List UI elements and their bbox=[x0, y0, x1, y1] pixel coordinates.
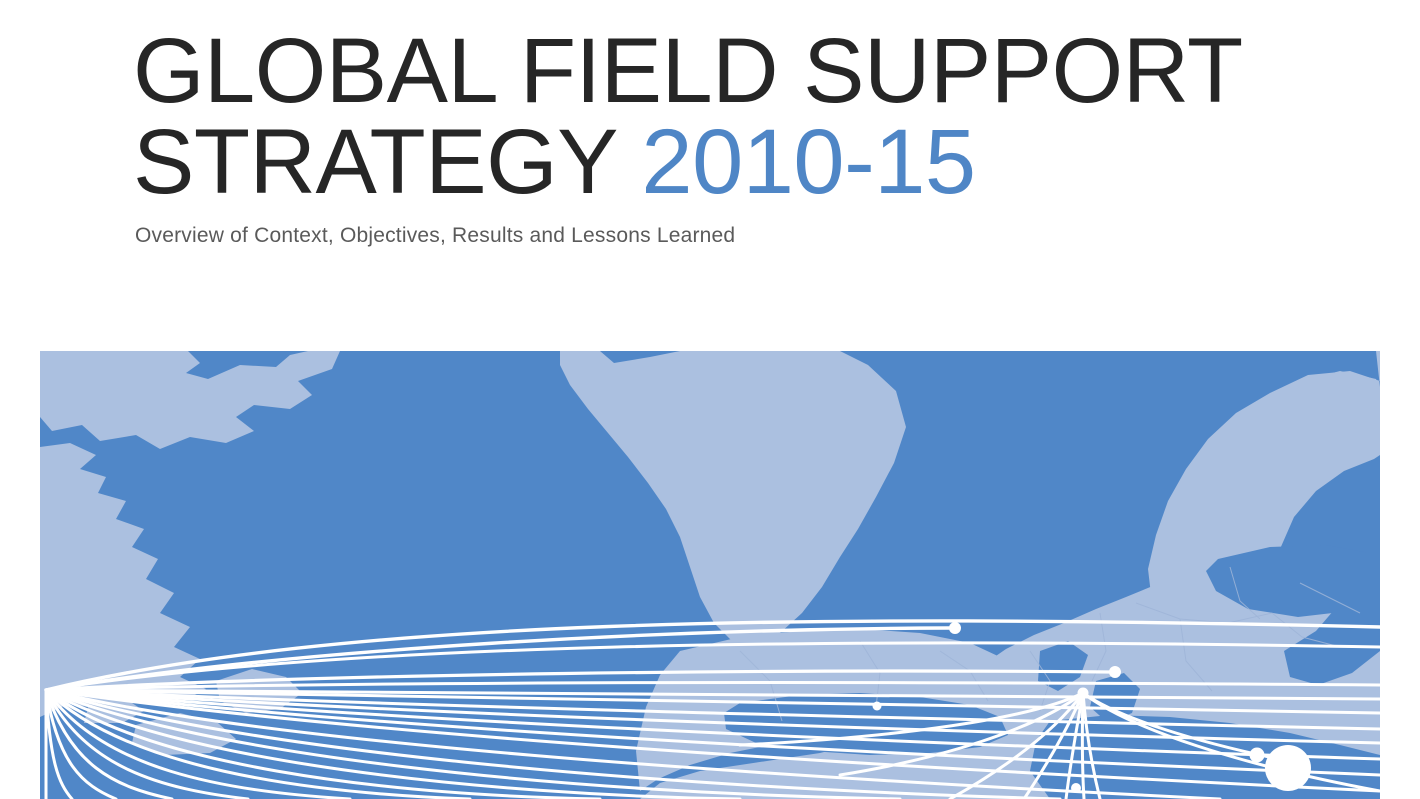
node-iberia-dot bbox=[873, 702, 882, 711]
node-central-europe-dot bbox=[949, 622, 961, 634]
node-southeast-europe-dot bbox=[1109, 666, 1121, 678]
page-title-years: 2010-15 bbox=[641, 111, 975, 213]
world-map-svg bbox=[40, 351, 1380, 799]
title-block: GLOBAL FIELD SUPPORT STRATEGY 2010-15 Ov… bbox=[133, 26, 1313, 248]
page-title: GLOBAL FIELD SUPPORT STRATEGY 2010-15 bbox=[133, 26, 1313, 208]
node-balkans-lower-dot bbox=[1071, 783, 1081, 793]
node-levant-large-dot bbox=[1265, 745, 1311, 791]
page-subtitle: Overview of Context, Objectives, Results… bbox=[135, 224, 1313, 248]
world-map-image bbox=[40, 351, 1380, 799]
slide-root: GLOBAL FIELD SUPPORT STRATEGY 2010-15 Ov… bbox=[0, 0, 1420, 799]
node-levant-small-dot bbox=[1250, 748, 1265, 763]
node-balkans-hub-dot bbox=[1078, 688, 1089, 699]
route-branch-b2 bbox=[1082, 693, 1084, 799]
